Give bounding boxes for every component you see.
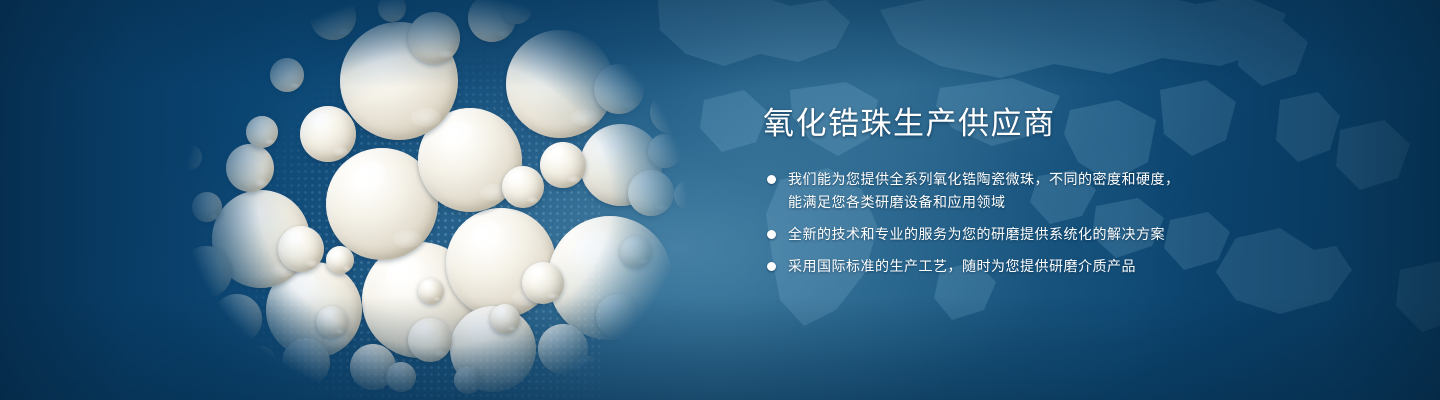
feature-text-line: 采用国际标准的生产工艺，随时为您提供研磨介质产品	[788, 255, 1223, 278]
banner-text-block: 氧化锆珠生产供应商 我们能为您提供全系列氧化锆陶瓷微珠，不同的密度和硬度， 能满…	[763, 104, 1223, 278]
feature-list-item: 全新的技术和专业的服务为您的研磨提供系统化的解决方案	[763, 223, 1223, 246]
banner-headline: 氧化锆珠生产供应商	[763, 104, 1223, 144]
feature-list-item: 采用国际标准的生产工艺，随时为您提供研磨介质产品	[763, 255, 1223, 278]
bullet-dot-icon	[767, 230, 776, 239]
feature-text-line: 能满足您各类研磨设备和应用领域	[788, 191, 1223, 214]
bullet-dot-icon	[767, 175, 776, 184]
bullet-dot-icon	[767, 262, 776, 271]
banner-feature-list: 我们能为您提供全系列氧化锆陶瓷微珠，不同的密度和硬度， 能满足您各类研磨设备和应…	[763, 168, 1223, 278]
feature-text-line: 我们能为您提供全系列氧化锆陶瓷微珠，不同的密度和硬度，	[788, 168, 1223, 191]
feature-text-line: 全新的技术和专业的服务为您的研磨提供系统化的解决方案	[788, 223, 1223, 246]
background-vignette	[0, 0, 1440, 400]
feature-list-item: 我们能为您提供全系列氧化锆陶瓷微珠，不同的密度和硬度， 能满足您各类研磨设备和应…	[763, 168, 1223, 214]
hero-banner: 氧化锆珠生产供应商 我们能为您提供全系列氧化锆陶瓷微珠，不同的密度和硬度， 能满…	[0, 0, 1440, 400]
